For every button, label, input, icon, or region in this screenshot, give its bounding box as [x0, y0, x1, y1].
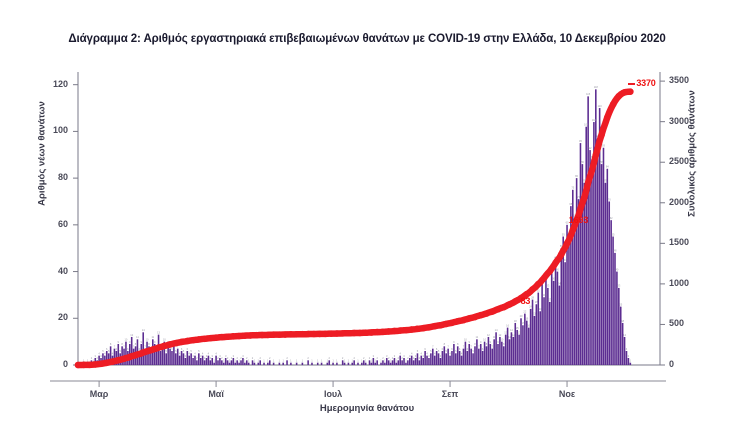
bar-value-label: 1	[317, 358, 319, 362]
cumulative-point	[98, 361, 105, 368]
bar-value-label: 12	[130, 333, 133, 337]
cumulative-point	[368, 329, 375, 336]
bar	[532, 300, 534, 365]
bar-value-label: 7	[432, 344, 434, 348]
bar	[551, 267, 553, 365]
bar	[511, 332, 513, 365]
bar	[445, 353, 447, 365]
cumulative-point	[334, 330, 341, 337]
cumulative-point	[564, 240, 571, 247]
cumulative-point	[627, 88, 634, 95]
bar	[516, 330, 518, 365]
bar	[608, 201, 610, 365]
bar-value-label: 8	[486, 342, 488, 346]
bar	[206, 358, 208, 365]
bar	[626, 351, 628, 365]
bar-value-label: 5	[165, 349, 167, 353]
bar	[267, 363, 269, 365]
bar	[495, 332, 497, 365]
chart-figure: Διάγραμμα 2: Αριθμός εργαστηριακά επιβεβ…	[0, 0, 734, 430]
bar-value-label: 13	[157, 330, 160, 334]
cumulative-point	[569, 227, 576, 234]
cumulative-point	[207, 335, 214, 342]
bar-value-label: 19	[525, 316, 528, 320]
bar	[407, 360, 409, 365]
bar-value-label: 1	[336, 358, 338, 362]
bar-value-label: 10	[500, 337, 503, 341]
bar	[244, 363, 246, 365]
bar	[374, 363, 376, 365]
bar-value-label: 104	[592, 118, 597, 122]
data-annotation: 3370	[636, 78, 655, 88]
bar	[482, 351, 484, 365]
bar-value-label: 1	[279, 358, 281, 362]
annotation-leader	[628, 83, 635, 85]
bar-value-label: 2	[259, 356, 261, 360]
bar	[327, 363, 329, 365]
bar	[348, 363, 350, 365]
bar	[522, 325, 524, 365]
cumulative-point	[288, 331, 295, 338]
bar	[428, 358, 430, 365]
bar	[371, 363, 373, 365]
bar-value-label: 2	[376, 356, 378, 360]
bar-value-label: 1	[344, 358, 346, 362]
bar	[568, 244, 570, 365]
bar-value-label: 7	[123, 344, 125, 348]
bar	[539, 311, 541, 365]
bar	[390, 363, 392, 365]
bar	[557, 272, 559, 365]
bar-value-label: 55	[562, 232, 565, 236]
x-tick: Σεπ	[420, 389, 480, 399]
y-tick-right: 500	[669, 318, 715, 328]
bar-value-label: 9	[154, 340, 156, 344]
y-tick-left: 100	[28, 125, 68, 135]
bar-value-label: 6	[459, 347, 461, 351]
bar-value-label: 2	[307, 356, 309, 360]
cumulative-point	[472, 314, 479, 321]
cumulative-point	[449, 319, 456, 326]
bar-value-label: 115	[586, 92, 591, 96]
bar-value-label: 4	[434, 351, 436, 355]
y-tick-right: 3000	[669, 116, 715, 126]
bar-value-label: 18	[621, 319, 624, 323]
bar	[328, 360, 330, 365]
bar-value-label: 10	[464, 337, 467, 341]
bar-value-label: 8	[444, 342, 446, 346]
bar-value-label: 4	[112, 351, 114, 355]
x-tick: Ιουλ	[303, 389, 363, 399]
bar	[597, 138, 599, 365]
bar	[263, 363, 265, 365]
bar	[574, 218, 576, 365]
bar	[361, 363, 363, 365]
bar-value-label: 8	[457, 342, 459, 346]
bar-value-label: 1	[263, 358, 265, 362]
bar-value-label: 6	[116, 347, 118, 351]
bar	[442, 351, 444, 365]
bar-value-label: 6	[451, 347, 453, 351]
bar-value-label: 2	[419, 356, 421, 360]
bar	[229, 363, 231, 365]
bar-value-label: 2	[353, 356, 355, 360]
cumulative-point	[420, 325, 427, 332]
bar	[451, 351, 453, 365]
bar	[463, 349, 465, 365]
bar-value-label: 1	[365, 358, 367, 362]
cumulative-point	[339, 330, 346, 337]
bar	[307, 360, 309, 365]
bar-value-label: 2	[96, 356, 98, 360]
bar-value-label: 3	[242, 354, 244, 358]
cumulative-point	[512, 298, 519, 305]
bar	[467, 351, 469, 365]
bar	[302, 363, 304, 365]
bar	[564, 262, 566, 365]
cumulative-point	[454, 318, 461, 325]
bar	[290, 363, 292, 365]
cumulative-point	[80, 362, 87, 369]
bar	[497, 344, 499, 365]
bar	[440, 358, 442, 365]
bar	[192, 358, 194, 365]
cumulative-point	[483, 310, 490, 317]
bar	[476, 339, 478, 365]
bar	[179, 356, 181, 365]
cumulative-point	[437, 322, 444, 329]
bar	[465, 342, 467, 365]
bar-value-label: 14	[495, 328, 498, 332]
bar-value-label: 102	[584, 123, 589, 127]
bar-value-label: 1	[332, 358, 334, 362]
y-tick-right: 0	[669, 359, 715, 369]
y-tick-left: 120	[28, 79, 68, 89]
y-tick-right: 2000	[669, 197, 715, 207]
bar-value-label: 5	[438, 349, 440, 353]
bar	[549, 302, 551, 365]
bar-value-label: 4	[215, 351, 217, 355]
cumulative-point	[242, 332, 249, 339]
bar	[559, 286, 561, 365]
bar	[175, 353, 177, 365]
bar-value-label: 1	[311, 358, 313, 362]
bar	[196, 360, 198, 365]
bar-value-label: 62	[610, 216, 613, 220]
bar-value-label: 1	[302, 358, 304, 362]
bar-value-label: 7	[478, 344, 480, 348]
bar	[505, 335, 507, 365]
bar-value-label: 1	[223, 358, 225, 362]
bar	[240, 360, 242, 365]
bar-value-label: 5	[430, 349, 432, 353]
bar-value-label: 6	[139, 347, 141, 351]
bar	[131, 337, 133, 365]
bar	[434, 356, 436, 365]
cumulative-point	[132, 352, 139, 359]
bar	[478, 349, 480, 365]
x-tick: Μαϊ	[186, 389, 246, 399]
cumulative-point	[345, 330, 352, 337]
cumulative-point	[161, 343, 168, 350]
bar	[630, 363, 632, 365]
bar	[585, 127, 587, 365]
bar	[591, 159, 593, 365]
bar-value-label: 3	[422, 354, 424, 358]
bar-value-label: 22	[523, 309, 526, 313]
cumulative-point	[506, 301, 513, 308]
bar-value-label: 11	[136, 335, 139, 339]
bar	[269, 360, 271, 365]
bar-value-label: 5	[108, 349, 110, 353]
bar	[472, 353, 474, 365]
bar	[248, 363, 250, 365]
bar	[357, 363, 359, 365]
cumulative-point	[408, 326, 415, 333]
bar	[610, 220, 612, 365]
bar-value-label: 86	[581, 160, 584, 164]
cumulative-point	[299, 331, 306, 338]
bar-value-label: 1	[357, 358, 359, 362]
bar	[200, 358, 202, 365]
bar-value-label: 1	[290, 358, 292, 362]
bar-value-label: 1	[321, 358, 323, 362]
data-annotation: 1693	[569, 215, 588, 225]
cumulative-point	[414, 326, 421, 333]
bar	[534, 316, 536, 365]
bar	[601, 164, 603, 365]
cumulative-point	[391, 328, 398, 335]
bar-value-label: 3	[403, 354, 405, 358]
bar-value-label: 8	[503, 342, 505, 346]
bar	[217, 360, 219, 365]
bar	[238, 363, 240, 365]
cumulative-point	[529, 286, 536, 293]
bar-value-label: 1	[254, 358, 256, 362]
bar	[449, 356, 451, 365]
bar-value-label: 6	[482, 347, 484, 351]
bar-value-label: 9	[129, 340, 131, 344]
cumulative-point	[270, 331, 277, 338]
y-tick-right: 3500	[669, 75, 715, 85]
bar-value-label: 9	[118, 340, 120, 344]
bar	[509, 339, 511, 365]
bar-value-label: 33	[617, 284, 620, 288]
bar	[317, 363, 319, 365]
cumulative-point	[259, 332, 266, 339]
bar-value-label: 93	[602, 144, 605, 148]
cumulative-point	[431, 323, 438, 330]
cumulative-point	[610, 101, 617, 108]
cumulative-point	[184, 338, 191, 345]
bar-value-label: 3	[373, 354, 375, 358]
bar-value-label: 4	[461, 351, 463, 355]
cumulative-point	[558, 251, 565, 258]
bar	[422, 358, 424, 365]
bar-value-label: 6	[424, 347, 426, 351]
bar	[453, 344, 455, 365]
bar	[376, 360, 378, 365]
bar-value-label: 40	[615, 267, 618, 271]
bar	[311, 363, 313, 365]
bar	[273, 363, 275, 365]
bar-value-label: 3	[212, 354, 214, 358]
bar	[576, 178, 578, 365]
cumulative-point	[322, 331, 329, 338]
bar-value-label: 3	[428, 354, 430, 358]
bar-value-label: 14	[510, 328, 513, 332]
cumulative-point	[224, 333, 231, 340]
bar	[430, 353, 432, 365]
bar	[612, 237, 614, 365]
bar-value-label: 5	[472, 349, 474, 353]
cumulative-point	[460, 317, 467, 324]
bar	[177, 349, 179, 365]
cumulative-point	[149, 346, 156, 353]
bar	[503, 346, 505, 365]
bar-value-label: 3	[628, 354, 630, 358]
cumulative-point	[500, 304, 507, 311]
bar	[279, 363, 281, 365]
cumulative-point	[581, 194, 588, 201]
bar-value-label: 7	[144, 344, 146, 348]
bar-value-label: 10	[163, 337, 166, 341]
bar	[491, 349, 493, 365]
bar	[204, 360, 206, 365]
cumulative-point	[362, 329, 369, 336]
cumulative-point	[138, 350, 145, 357]
bar-value-label: 3	[415, 354, 417, 358]
y-tick-left: 0	[28, 359, 68, 369]
cumulative-point	[86, 362, 93, 369]
bar	[160, 351, 162, 365]
cumulative-point	[621, 89, 628, 96]
cumulative-point	[155, 344, 162, 351]
bar	[474, 346, 476, 365]
bar-value-label: 110	[598, 104, 603, 108]
bar-value-label: 6	[626, 347, 628, 351]
bar-value-label: 1	[282, 358, 284, 362]
bar-value-label: 33	[546, 284, 549, 288]
bar-value-label: 5	[417, 349, 419, 353]
cumulative-point	[374, 329, 381, 336]
cumulative-point	[426, 324, 433, 331]
cumulative-point	[466, 315, 473, 322]
bar-value-label: 12	[498, 333, 501, 337]
bar	[518, 335, 520, 365]
bar	[432, 349, 434, 365]
bar-value-label: 3	[394, 354, 396, 358]
cumulative-point	[265, 332, 272, 339]
bars-group	[83, 89, 631, 365]
cumulative-point	[196, 336, 203, 343]
bar-value-label: 9	[497, 340, 499, 344]
cumulative-point	[351, 330, 358, 337]
bar-value-label: 7	[447, 344, 449, 348]
cumulative-point	[201, 336, 208, 343]
y-tick-right: 1000	[669, 278, 715, 288]
bar-value-label: 1	[248, 358, 250, 362]
bar	[587, 96, 589, 365]
y-tick-right: 2500	[669, 156, 715, 166]
cumulative-point	[276, 331, 283, 338]
bar	[493, 339, 495, 365]
bar-value-label: 10	[146, 337, 149, 341]
bar-value-label: 4	[179, 351, 181, 355]
bar	[396, 363, 398, 365]
bar	[605, 183, 607, 365]
cumulative-point	[443, 321, 450, 328]
bar	[384, 363, 386, 365]
bar-value-label: 4	[104, 351, 106, 355]
bar	[257, 363, 259, 365]
bar	[580, 143, 582, 365]
bar-value-label: 6	[187, 347, 189, 351]
bar	[595, 89, 597, 365]
cumulative-point	[293, 331, 300, 338]
bar-value-label: 4	[399, 351, 401, 355]
bar-value-label: 5	[445, 349, 447, 353]
bar	[210, 360, 212, 365]
cumulative-point	[253, 332, 260, 339]
bar-value-label: 40	[556, 267, 559, 271]
bar-value-label: 1	[371, 358, 373, 362]
bar	[165, 353, 167, 365]
bar-value-label: 1	[384, 358, 386, 362]
bar-value-label: 11	[476, 335, 479, 339]
cumulative-point	[357, 330, 364, 337]
bar-value-label: 28	[531, 295, 534, 299]
bar	[351, 363, 353, 365]
bar-value-label: 5	[198, 349, 200, 353]
bar	[513, 337, 515, 365]
bar	[415, 358, 417, 365]
bar-value-label: 9	[141, 340, 143, 344]
bar-value-label: 1	[273, 358, 275, 362]
bar	[254, 363, 256, 365]
bar-value-label: 8	[110, 342, 112, 346]
cumulative-point	[541, 275, 548, 282]
cumulative-point	[305, 331, 312, 338]
bar	[286, 360, 288, 365]
bar-value-label: 10	[124, 337, 127, 341]
cumulative-point	[213, 334, 220, 341]
bar	[584, 183, 586, 365]
bar	[555, 260, 557, 365]
bar-value-label: 75	[571, 186, 574, 190]
bar-value-label: 3	[440, 354, 442, 358]
bar	[213, 363, 215, 365]
x-tick: Νοε	[537, 389, 597, 399]
bar-value-label: 8	[135, 342, 137, 346]
y-tick-right: 1500	[669, 237, 715, 247]
x-axis-label: Ημερομηνία θανάτου	[0, 403, 734, 414]
cumulative-point	[311, 331, 318, 338]
bar	[444, 346, 446, 365]
cumulative-point	[236, 333, 243, 340]
bar-value-label: 9	[453, 340, 455, 344]
bar-value-label: 11	[151, 335, 154, 339]
cumulative-point	[190, 337, 197, 344]
cumulative-point	[247, 332, 254, 339]
cumulative-point	[587, 173, 594, 180]
cumulative-point	[103, 360, 110, 367]
bar	[142, 332, 144, 365]
bar	[231, 360, 233, 365]
bar-value-label: 118	[594, 85, 599, 89]
bar-value-label: 2	[329, 356, 331, 360]
cumulative-point	[380, 329, 387, 336]
